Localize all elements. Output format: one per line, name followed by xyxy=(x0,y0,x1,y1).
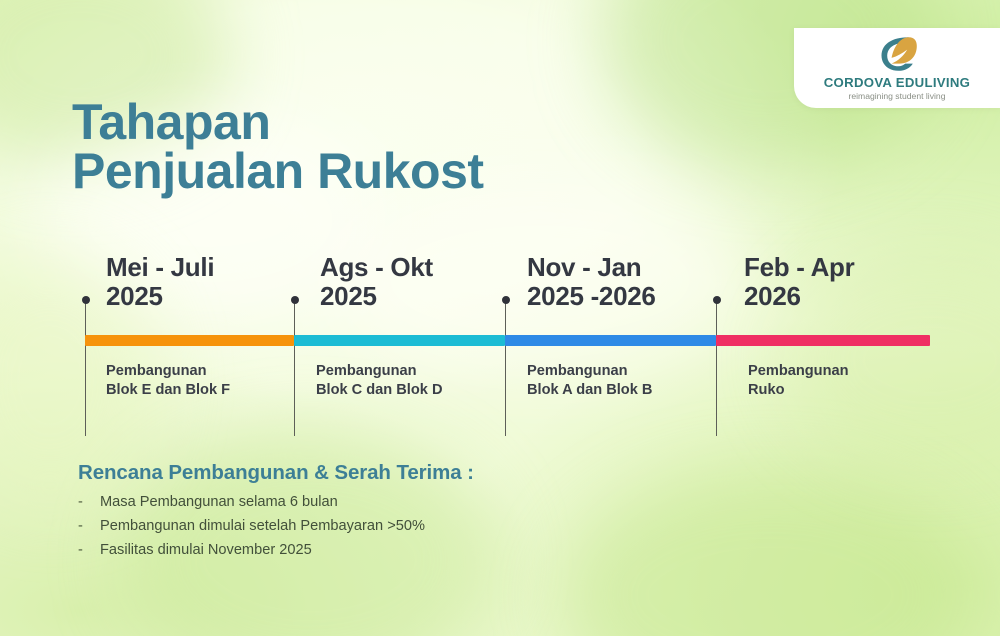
timeline-tick xyxy=(505,300,506,436)
phase-description: Pembangunan Blok C dan Blok D xyxy=(316,362,443,401)
phase-date-range: Feb - Apr xyxy=(744,252,854,282)
timeline-bar-segment xyxy=(294,335,505,346)
note-item: - Pembangunan dimulai setelah Pembayaran… xyxy=(78,518,474,534)
note-item: - Masa Pembangunan selama 6 bulan xyxy=(78,494,474,510)
timeline-bar-segment xyxy=(505,335,716,346)
timeline-tick xyxy=(294,300,295,436)
timeline-tick-dot xyxy=(502,296,510,304)
notes-section: Rencana Pembangunan & Serah Terima : - M… xyxy=(78,461,474,566)
phase-description: Pembangunan Blok E dan Blok F xyxy=(106,362,230,401)
timeline-tick-dot xyxy=(713,296,721,304)
phase-date-label: Ags - Okt 2025 xyxy=(320,253,433,311)
phase-year: 2026 xyxy=(744,282,854,311)
timeline-tick-dot xyxy=(82,296,90,304)
phase-description-line1: Pembangunan xyxy=(527,363,628,379)
phase-year: 2025 xyxy=(320,282,433,311)
phase-description: Pembangunan Blok A dan Blok B xyxy=(527,362,652,401)
note-item: - Fasilitas dimulai November 2025 xyxy=(78,542,474,558)
notes-heading: Rencana Pembangunan & Serah Terima : xyxy=(78,461,474,485)
phase-date-range: Nov - Jan xyxy=(527,252,641,282)
phase-description-line1: Pembangunan xyxy=(748,363,849,379)
phase-year: 2025 xyxy=(106,282,214,311)
timeline-bar-segment xyxy=(85,335,294,346)
phase-year: 2025 -2026 xyxy=(527,282,656,311)
phase-date-label: Feb - Apr 2026 xyxy=(744,253,854,311)
phase-description: Pembangunan Ruko xyxy=(748,362,849,401)
bullet-dash-icon: - xyxy=(78,542,100,558)
note-item-text: Masa Pembangunan selama 6 bulan xyxy=(100,494,338,510)
infographic-slide: CORDOVA EDULIVING reimagining student li… xyxy=(0,0,1000,636)
phase-description-line1: Pembangunan xyxy=(106,363,207,379)
note-item-text: Fasilitas dimulai November 2025 xyxy=(100,542,312,558)
phase-description-line2: Blok A dan Blok B xyxy=(527,381,652,400)
phase-date-label: Nov - Jan 2025 -2026 xyxy=(527,253,656,311)
phase-description-line2: Blok E dan Blok F xyxy=(106,381,230,400)
phase-description-line2: Blok C dan Blok D xyxy=(316,381,443,400)
phase-description-line1: Pembangunan xyxy=(316,363,417,379)
phase-date-label: Mei - Juli 2025 xyxy=(106,253,214,311)
bullet-dash-icon: - xyxy=(78,518,100,534)
timeline-tick-dot xyxy=(291,296,299,304)
phase-date-range: Mei - Juli xyxy=(106,252,214,282)
phase-date-range: Ags - Okt xyxy=(320,252,433,282)
timeline-tick xyxy=(85,300,86,436)
timeline-bar-segment xyxy=(716,335,930,346)
phase-description-line2: Ruko xyxy=(748,381,849,400)
timeline-tick xyxy=(716,300,717,436)
note-item-text: Pembangunan dimulai setelah Pembayaran >… xyxy=(100,518,425,534)
bullet-dash-icon: - xyxy=(78,494,100,510)
